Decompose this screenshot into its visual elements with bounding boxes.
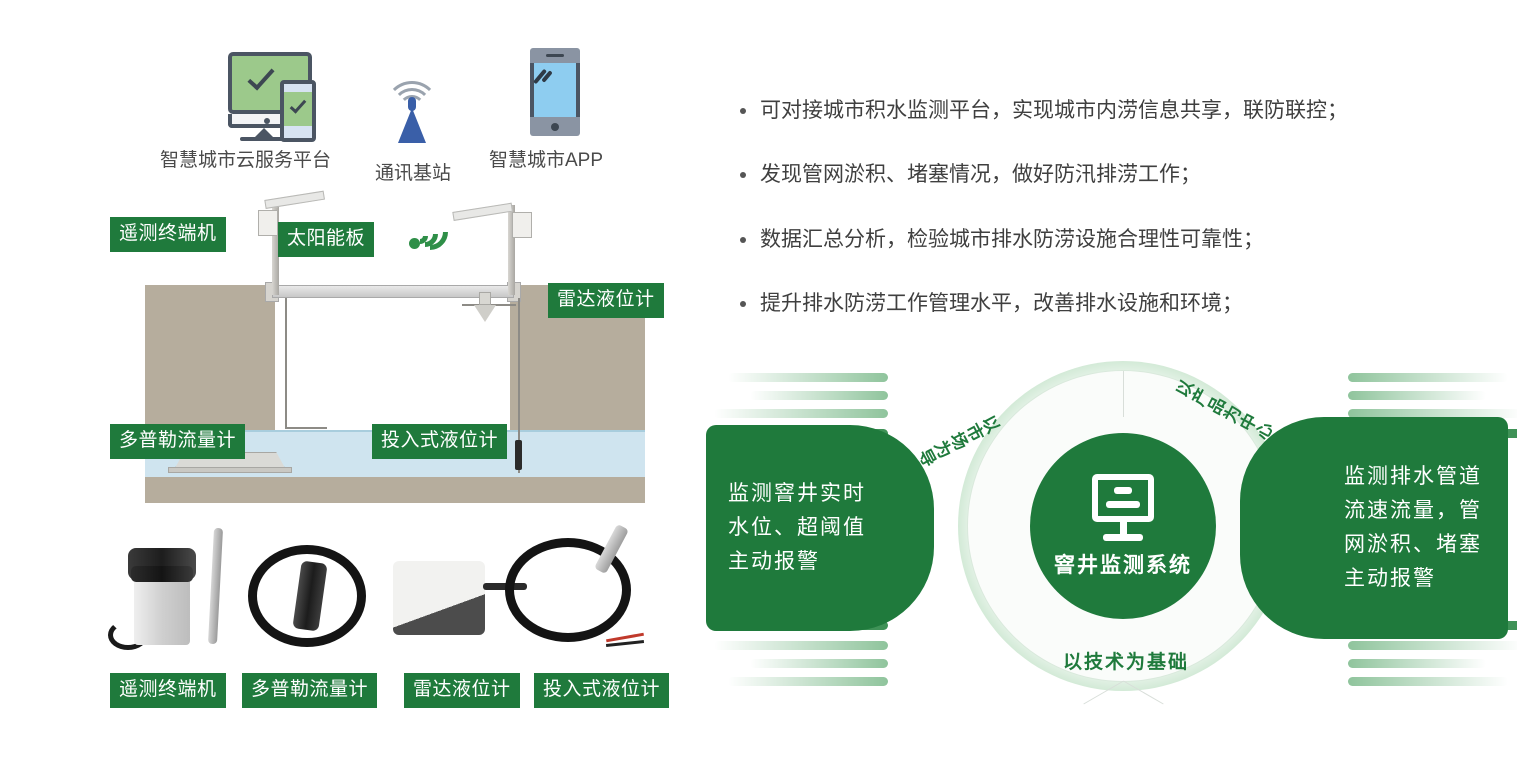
monitor-line-long — [1106, 501, 1140, 508]
list-item: 发现管网淤积、堵塞情况，做好防汛排涝工作； — [740, 160, 1500, 190]
right-card[interactable]: 监测排水管道 流速流量，管 网淤积、堵塞 主动报警 — [1240, 417, 1508, 639]
bullet-dot-icon — [740, 301, 746, 307]
decor-stripe — [1348, 373, 1508, 382]
radar-cone — [474, 305, 496, 322]
monitor-indicator-dot — [264, 118, 270, 124]
right-card-text: 监测排水管道 流速流量，管 网淤积、堵塞 主动报警 — [1344, 460, 1482, 596]
rtu-antenna — [208, 528, 223, 644]
list-item: 数据汇总分析，检验城市排水防涝设施合理性可靠性； — [740, 225, 1500, 255]
monitor-foot — [1103, 534, 1143, 541]
decor-stripe — [728, 677, 888, 686]
rtu-box-right — [512, 212, 532, 238]
cable-left — [285, 298, 287, 428]
solar-panel-left — [264, 191, 325, 209]
feature-bullet-list: 可对接城市积水监测平台，实现城市内涝信息共享，联防联控； 发现管网淤积、堵塞情况… — [740, 96, 1500, 354]
right-content-panel: 可对接城市积水监测平台，实现城市内涝信息共享，联防联控； 发现管网淤积、堵塞情况… — [700, 0, 1517, 772]
manhole-cover — [272, 285, 514, 298]
tag-radar-level-meter[interactable]: 雷达液位计 — [548, 283, 664, 318]
bullet-dot-icon — [740, 237, 746, 243]
phone-home-button — [551, 123, 559, 131]
tag-rtu[interactable]: 遥测终端机 — [110, 217, 226, 252]
decor-stripe — [714, 409, 888, 418]
caption-base-station: 通讯基站 — [375, 158, 451, 185]
tag-doppler-flow-meter[interactable]: 多普勒流量计 — [110, 424, 245, 459]
rtu-canister — [134, 575, 190, 645]
infographic-root: 智慧城市云服务平台 通讯基站 智慧城市APP — [0, 0, 1517, 772]
decor-stripe — [1348, 677, 1508, 686]
product-label-doppler[interactable]: 多普勒流量计 — [242, 673, 377, 708]
phone-speaker — [546, 54, 564, 57]
bullet-text: 数据汇总分析，检验城市排水防涝设施合理性可靠性； — [760, 225, 1264, 255]
caption-cloud-platform: 智慧城市云服务平台 — [160, 145, 331, 172]
tag-solar-panel[interactable]: 太阳能板 — [278, 222, 374, 257]
ring-divider — [1123, 371, 1124, 417]
arc-label-technology: 以技术为基础 — [1063, 647, 1189, 674]
radar-housing — [479, 292, 491, 305]
left-diagram-panel: 智慧城市云服务平台 通讯基站 智慧城市APP — [0, 0, 700, 772]
product-label-radar[interactable]: 雷达液位计 — [404, 673, 520, 708]
wifi-dot — [409, 238, 420, 249]
core-system-label: 窨井监测系统 — [1054, 549, 1192, 579]
radar-enclosure — [393, 561, 485, 635]
bullet-dot-icon — [740, 108, 746, 114]
decor-stripe — [1348, 391, 1486, 400]
submersible-probe — [515, 440, 522, 470]
caption-smart-city-app: 智慧城市APP — [489, 145, 603, 172]
cable-left-horizontal — [285, 427, 327, 429]
list-item: 可对接城市积水监测平台，实现城市内涝信息共享，联防联控； — [740, 96, 1500, 126]
pipe-bed — [145, 477, 645, 503]
product-label-submersible[interactable]: 投入式液位计 — [534, 673, 669, 708]
antenna-mast — [398, 108, 426, 143]
solar-panel-right — [452, 203, 513, 221]
bullet-dot-icon — [740, 172, 746, 178]
decor-stripe — [750, 659, 888, 668]
ground-left — [145, 285, 275, 430]
left-card[interactable]: 监测窨井实时 水位、超阈值 主动报警 — [706, 425, 934, 631]
bullet-text: 可对接城市积水监测平台，实现城市内涝信息共享，联防联控； — [760, 96, 1348, 126]
list-item: 提升排水防涝工作管理水平，改善排水设施和环境； — [740, 289, 1500, 319]
monitor-stand — [1120, 522, 1127, 534]
doppler-sensor-base — [168, 467, 292, 473]
decor-stripe — [1348, 641, 1517, 650]
rtu-collar — [131, 566, 193, 582]
tag-submersible-level-meter[interactable]: 投入式液位计 — [372, 424, 507, 459]
left-card-text: 监测窨井实时 水位、超阈值 主动报警 — [728, 477, 866, 579]
bullet-text: 发现管网淤积、堵塞情况，做好防汛排涝工作； — [760, 160, 1201, 190]
product-label-rtu[interactable]: 遥测终端机 — [110, 673, 226, 708]
system-circle-diagram: 以市场为导向 以产品为中心 以技术为基础 窨井监测系统 监测窨井实时 水位、超阈… — [700, 355, 1517, 695]
decor-stripe — [750, 391, 888, 400]
rtu-box-left — [258, 210, 278, 236]
monitor-icon — [1092, 474, 1154, 522]
decor-stripe — [728, 373, 888, 382]
decor-stripe — [1348, 659, 1486, 668]
bullet-text: 提升排水防涝工作管理水平，改善排水设施和环境； — [760, 289, 1243, 319]
decor-stripe — [714, 641, 888, 650]
monitor-line-short — [1114, 487, 1132, 494]
circle-core: 窨井监测系统 — [1030, 433, 1216, 619]
